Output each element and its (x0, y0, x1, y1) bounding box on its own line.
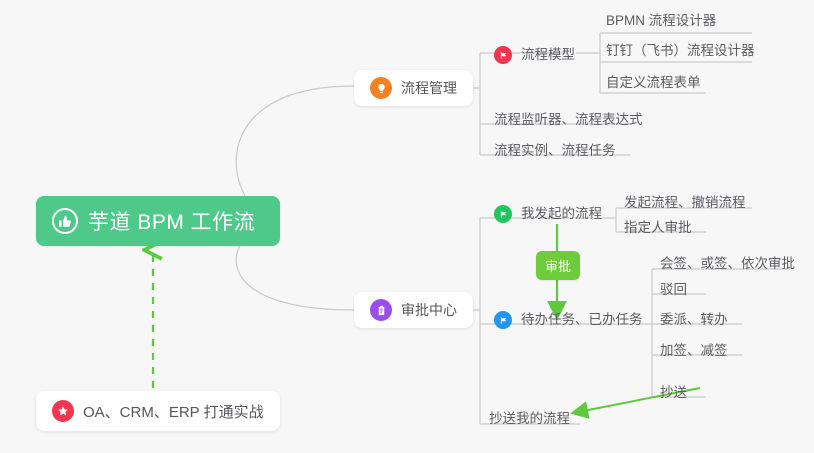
flag-icon (494, 311, 512, 329)
node-custom-process-form[interactable]: 自定义流程表单 (606, 76, 701, 90)
root-label: 芋道 BPM 工作流 (88, 206, 255, 236)
thumbs-up-icon (52, 208, 78, 234)
lightbulb-icon (370, 77, 392, 99)
node-dingtalk-feishu-designer[interactable]: 钉钉（飞书）流程设计器 (606, 44, 755, 58)
node-reject[interactable]: 驳回 (660, 283, 687, 297)
node-label: 待办任务、已办任务 (521, 313, 643, 327)
root-node[interactable]: 芋道 BPM 工作流 (36, 196, 280, 246)
approval-chip[interactable]: 审批 (536, 251, 580, 280)
flag-icon (494, 46, 512, 64)
node-process-model[interactable]: 流程模型 (494, 46, 575, 64)
node-label: 我发起的流程 (521, 207, 602, 221)
node-process-listener[interactable]: 流程监听器、流程表达式 (494, 113, 643, 127)
node-todo-done-tasks[interactable]: 待办任务、已办任务 (494, 311, 643, 329)
node-cc[interactable]: 抄送 (660, 386, 687, 400)
node-assignee-approval[interactable]: 指定人审批 (624, 221, 692, 235)
integration-note-label: OA、CRM、ERP 打通实战 (83, 401, 264, 422)
node-my-initiated-process[interactable]: 我发起的流程 (494, 205, 602, 223)
branch-node-approval-center[interactable]: 审批中心 (354, 292, 473, 328)
node-add-remove-sign[interactable]: 加签、减签 (660, 344, 728, 358)
clipboard-icon (370, 299, 392, 321)
mindmap-canvas: 芋道 BPM 工作流 流程管理 流程模型 流程监听器、流程表达式 流程实例、流程… (0, 0, 814, 453)
node-process-instance[interactable]: 流程实例、流程任务 (494, 144, 616, 158)
branch-label: 流程管理 (401, 78, 457, 98)
node-initiate-cancel-process[interactable]: 发起流程、撤销流程 (624, 196, 746, 210)
integration-note-card[interactable]: OA、CRM、ERP 打通实战 (36, 391, 280, 431)
flag-icon (494, 205, 512, 223)
node-countersign[interactable]: 会签、或签、依次审批 (660, 257, 795, 271)
node-bpmn-designer[interactable]: BPMN 流程设计器 (606, 14, 716, 28)
star-icon (52, 400, 74, 422)
branch-node-process-management[interactable]: 流程管理 (354, 70, 473, 106)
node-label: 流程模型 (521, 48, 575, 62)
branch-label: 审批中心 (401, 300, 457, 320)
node-delegate-transfer[interactable]: 委派、转办 (660, 313, 728, 327)
node-cc-to-me-process[interactable]: 抄送我的流程 (489, 412, 570, 426)
